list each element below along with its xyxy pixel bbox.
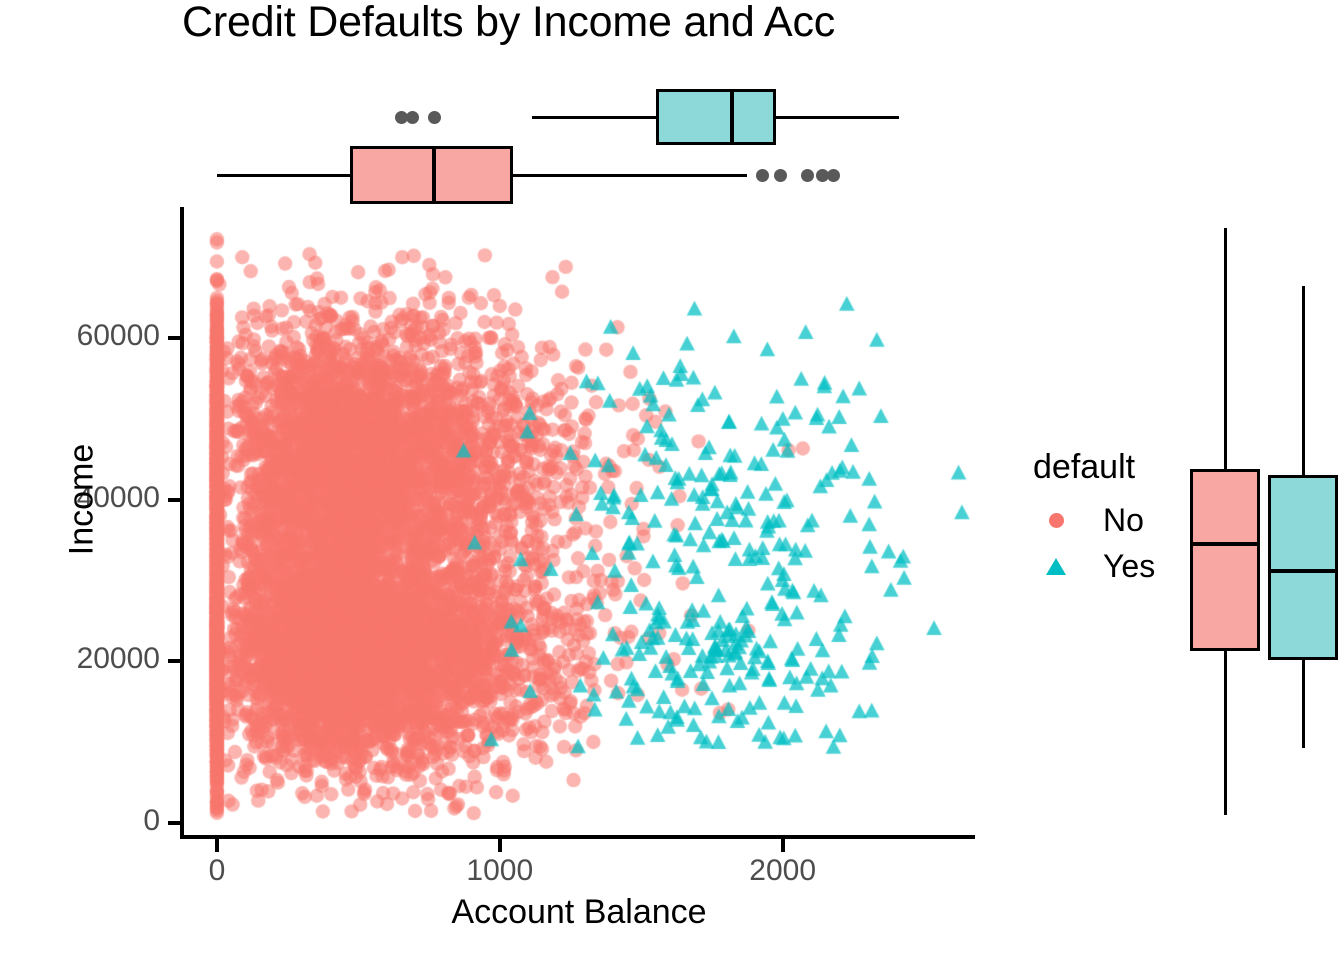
x-axis-tick-label: 0 bbox=[117, 854, 317, 888]
scatter-points-layer bbox=[183, 208, 975, 838]
boxplot-whisker-upper bbox=[776, 116, 899, 119]
chart-title-container: Credit Defaults by Income and Acc bbox=[0, 0, 982, 62]
boxplot-whisker-lower bbox=[532, 116, 656, 119]
y-axis-line bbox=[180, 207, 184, 839]
boxplot-whisker-upper bbox=[1224, 228, 1227, 469]
y-axis-tick bbox=[168, 821, 181, 825]
boxplot-outlier-point bbox=[774, 169, 787, 182]
boxplot-outlier-point bbox=[428, 111, 441, 124]
legend-circle-icon bbox=[1033, 513, 1079, 528]
scatter-plot-panel bbox=[183, 208, 975, 838]
right-marginal-boxplot-group bbox=[1180, 208, 1344, 838]
top-marginal-boxplot-group bbox=[183, 62, 975, 208]
legend-items: NoYes bbox=[1033, 497, 1183, 589]
y-axis-tick bbox=[168, 336, 181, 340]
x-axis-title: Account Balance bbox=[183, 893, 975, 932]
legend-item-label: Yes bbox=[1103, 548, 1155, 585]
boxplot-outlier-point bbox=[756, 169, 769, 182]
boxplot-box-no bbox=[1190, 469, 1260, 651]
boxplot-whisker-lower bbox=[1302, 660, 1305, 749]
y-axis-tick bbox=[168, 659, 181, 663]
y-axis-tick-label: 60000 bbox=[0, 319, 160, 353]
y-axis-tick bbox=[168, 498, 181, 502]
x-axis-tick-label: 1000 bbox=[400, 854, 600, 888]
y-axis-tick-label: 20000 bbox=[0, 642, 160, 676]
legend-key-glyph bbox=[1046, 558, 1066, 575]
boxplot-outlier-point bbox=[801, 169, 814, 182]
boxplot-box-yes bbox=[656, 89, 776, 145]
page-title: Credit Defaults by Income and Acc bbox=[182, 0, 835, 47]
boxplot-whisker-upper bbox=[513, 174, 747, 177]
legend-item-no[interactable]: No bbox=[1033, 497, 1183, 543]
x-axis-line bbox=[181, 835, 975, 839]
y-axis-title: Income bbox=[63, 370, 102, 630]
boxplot-whisker-lower bbox=[217, 174, 351, 177]
boxplot-median-line bbox=[730, 89, 734, 145]
legend-item-yes[interactable]: Yes bbox=[1033, 543, 1183, 589]
boxplot-outlier-point bbox=[406, 111, 419, 124]
boxplot-median-line bbox=[1268, 569, 1338, 573]
x-axis-tick bbox=[215, 839, 219, 852]
legend-title: default bbox=[1033, 448, 1183, 487]
boxplot-whisker-lower bbox=[1224, 651, 1227, 816]
boxplot-outlier-point bbox=[827, 169, 840, 182]
legend-triangle-icon bbox=[1033, 558, 1079, 575]
boxplot-median-line bbox=[432, 146, 436, 204]
x-axis-tick bbox=[498, 839, 502, 852]
legend-item-label: No bbox=[1103, 502, 1144, 539]
boxplot-whisker-upper bbox=[1302, 286, 1305, 475]
boxplot-box-yes bbox=[1268, 475, 1338, 660]
legend: default NoYes bbox=[1033, 448, 1183, 589]
boxplot-median-line bbox=[1190, 542, 1260, 546]
legend-key-glyph bbox=[1049, 513, 1064, 528]
x-axis-tick-label: 2000 bbox=[683, 854, 883, 888]
y-axis-tick-label: 0 bbox=[0, 804, 160, 838]
x-axis-tick bbox=[781, 839, 785, 852]
chart-canvas: Credit Defaults by Income and Acc 020000… bbox=[0, 0, 1344, 960]
